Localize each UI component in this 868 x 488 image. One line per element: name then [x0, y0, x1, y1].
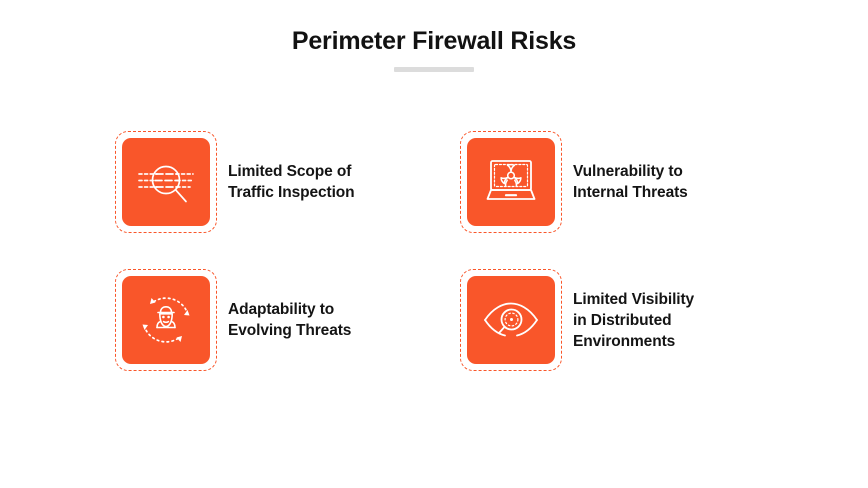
risk-item-internal-threats[interactable]: Vulnerability to Internal Threats: [467, 138, 762, 226]
risk-item-label: Limited Visibility in Distributed Enviro…: [573, 289, 694, 352]
risk-item-label: Adaptability to Evolving Threats: [228, 299, 351, 341]
risk-item-limited-scope[interactable]: Limited Scope of Traffic Inspection: [122, 138, 467, 226]
magnifier-traffic-lines-icon: [122, 138, 210, 226]
title-divider: [394, 67, 474, 72]
risk-row-2: Adaptability to Evolving Threats: [122, 276, 762, 364]
title-block: Perimeter Firewall Risks: [0, 24, 868, 72]
risk-items-grid: Limited Scope of Traffic Inspection: [122, 138, 762, 364]
risk-item-limited-visibility[interactable]: Limited Visibility in Distributed Enviro…: [467, 276, 762, 364]
risk-row-1: Limited Scope of Traffic Inspection: [122, 138, 762, 226]
risk-item-label: Limited Scope of Traffic Inspection: [228, 161, 355, 203]
slide-canvas: Perimeter Firewall Risks: [0, 0, 868, 488]
page-title: Perimeter Firewall Risks: [0, 24, 868, 58]
hacker-rotating-arrows-icon: [122, 276, 210, 364]
eye-magnifier-icon: [467, 276, 555, 364]
risk-item-label: Vulnerability to Internal Threats: [573, 161, 688, 203]
laptop-biohazard-icon: [467, 138, 555, 226]
risk-item-adaptability[interactable]: Adaptability to Evolving Threats: [122, 276, 467, 364]
